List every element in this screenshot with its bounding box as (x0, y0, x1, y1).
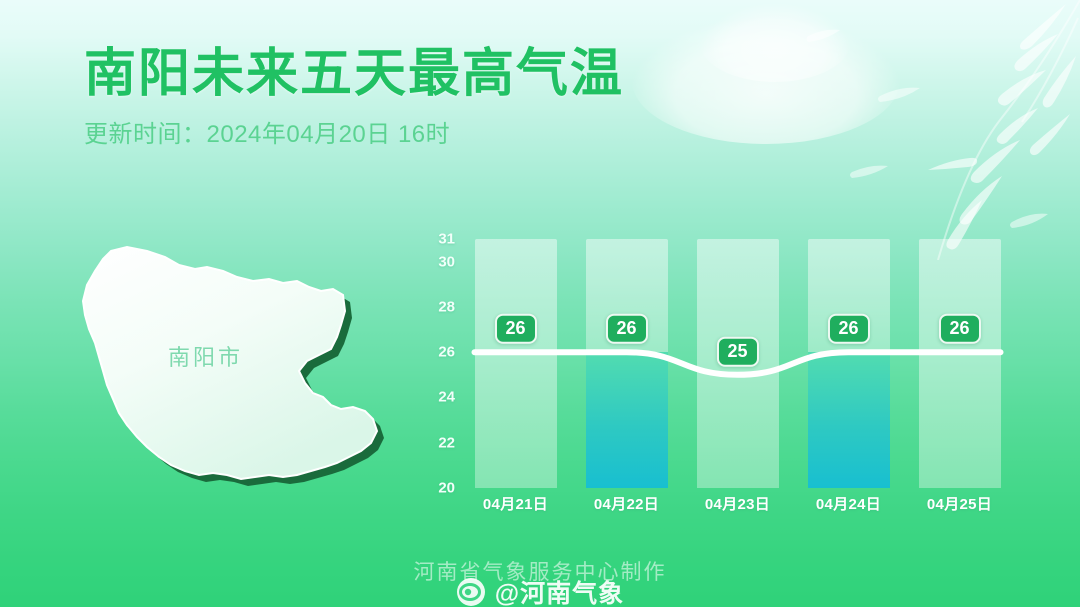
cloud-shape-large (632, 18, 900, 144)
value-badge-1: 26 (494, 314, 536, 344)
y-axis: 31302826242220 (415, 225, 455, 515)
y-axis-tick: 26 (421, 344, 455, 361)
value-badge-2: 26 (605, 314, 647, 344)
value-badge-4: 26 (827, 314, 869, 344)
y-axis-tick: 30 (421, 253, 455, 270)
willow-branch-decoration (870, 0, 1080, 260)
header-block: 南阳未来五天最高气温 更新时间：2024年04月20日 16时 (84, 46, 624, 149)
map-region-label: 南阳市 (168, 340, 243, 372)
update-time-text: 更新时间：2024年04月20日 16时 (84, 114, 624, 149)
y-axis-tick: 22 (421, 434, 455, 451)
x-axis-labels: 04月21日04月22日04月23日04月24日04月25日 (460, 493, 1015, 523)
weibo-watermark: @河南气象 (0, 574, 1080, 607)
x-axis-label-4: 04月24日 (793, 493, 905, 514)
y-axis-tick: 24 (421, 389, 455, 406)
value-badge-3: 25 (716, 337, 758, 367)
x-axis-label-1: 04月21日 (460, 493, 572, 514)
temperature-chart: 31302826242220 2626252626 04月21日04月22日04… (415, 225, 1015, 515)
y-axis-tick: 20 (421, 480, 455, 497)
y-axis-tick: 28 (421, 298, 455, 315)
x-axis-label-2: 04月22日 (571, 493, 683, 514)
weibo-eye-icon (456, 577, 486, 607)
x-axis-label-5: 04月25日 (904, 493, 1016, 514)
value-badge-5: 26 (938, 314, 980, 344)
x-axis-label-3: 04月23日 (682, 493, 794, 514)
y-axis-tick: 31 (421, 231, 455, 248)
weibo-handle: @河南气象 (495, 574, 624, 607)
cloud-shape-small (700, 4, 850, 82)
plot-area: 2626252626 (460, 225, 1015, 488)
page-title: 南阳未来五天最高气温 (84, 46, 624, 102)
